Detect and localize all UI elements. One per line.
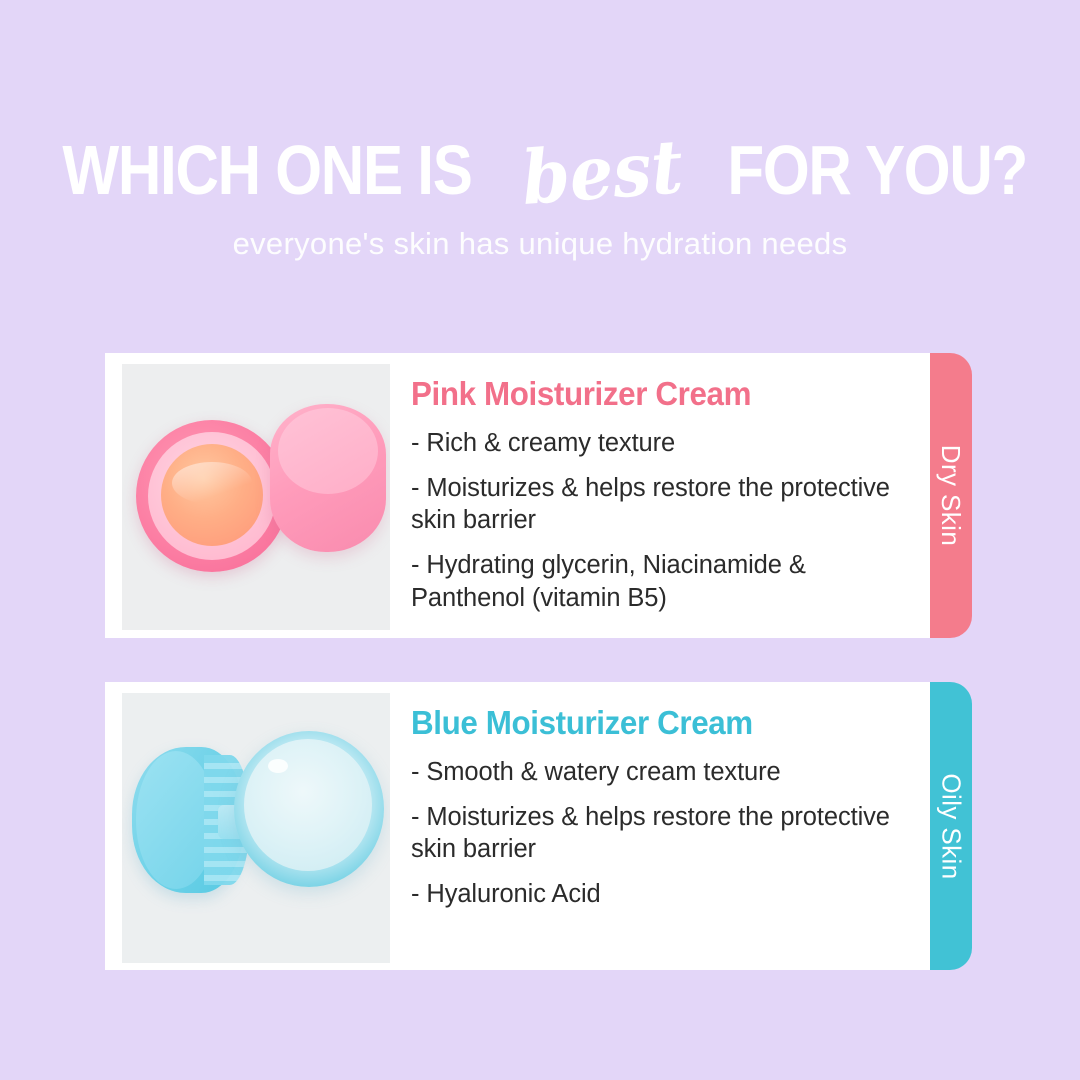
headline: WHICH ONE IS best FOR YOU? [0,126,1080,212]
bullet-item: - Moisturizes & helps restore the protec… [411,801,912,865]
product-image-pink [122,364,390,630]
blue-gel-highlight-icon [268,759,288,773]
bullet-item: - Moisturizes & helps restore the protec… [411,472,912,536]
bullet-item: - Hyaluronic Acid [411,878,912,910]
bullet-item: - Rich & creamy texture [411,427,912,459]
header: WHICH ONE IS best FOR YOU? everyone's sk… [0,126,1080,262]
side-tab-label-oily-skin: Oily Skin [936,773,967,879]
card-title-pink: Pink Moisturizer Cream [411,375,887,413]
blue-gel-icon [244,739,372,871]
product-card-blue[interactable]: Blue Moisturizer Cream - Smooth & watery… [105,682,930,970]
side-tab-dry-skin[interactable]: Dry Skin [930,353,972,638]
product-card-pink[interactable]: Pink Moisturizer Cream - Rich & creamy t… [105,353,930,638]
product-image-blue [122,693,390,963]
headline-text-after: FOR YOU? [727,127,1027,213]
pink-cream-highlight-icon [172,462,252,504]
side-tab-oily-skin[interactable]: Oily Skin [930,682,972,970]
card-title-blue: Blue Moisturizer Cream [411,704,887,742]
headline-script-word: best [507,123,695,223]
pink-jar-lid-top-icon [278,408,378,494]
side-tab-label-dry-skin: Dry Skin [936,445,967,546]
card-body-blue: Blue Moisturizer Cream - Smooth & watery… [390,682,930,924]
bullet-item: - Hydrating glycerin, Niacinamide & Pant… [411,549,912,613]
headline-text-before: WHICH ONE IS [62,127,471,213]
bullet-item: - Smooth & watery cream texture [411,756,912,788]
subtitle: everyone's skin has unique hydration nee… [0,226,1080,262]
card-body-pink: Pink Moisturizer Cream - Rich & creamy t… [390,353,930,627]
